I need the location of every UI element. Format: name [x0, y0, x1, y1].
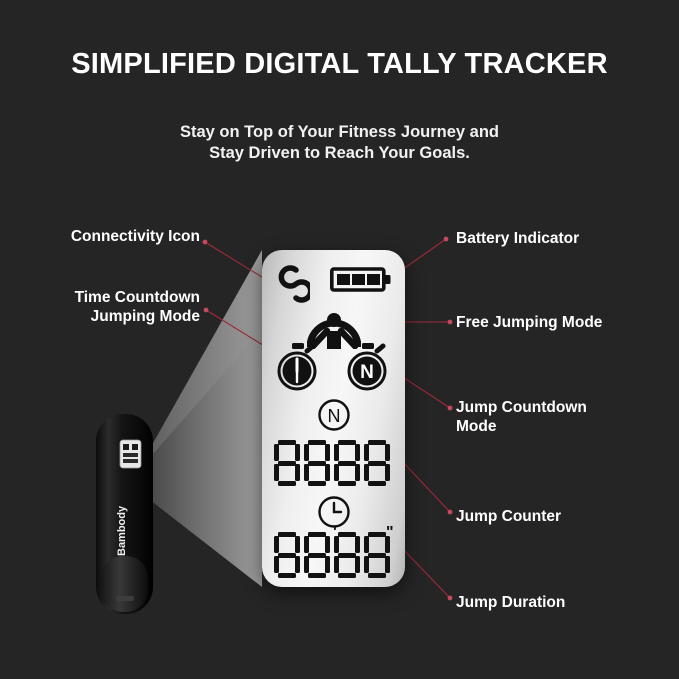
segment-b [355, 536, 360, 553]
segment-e [364, 556, 369, 573]
segment-f [364, 536, 369, 553]
segment-f [334, 444, 339, 461]
minute-mark: ' [333, 528, 337, 538]
callout-jump-countdown-mode: Jump Countdown Mode [456, 398, 671, 436]
segment-b [355, 444, 360, 461]
segment-e [274, 464, 279, 481]
brand-logo-text: Bambody [116, 505, 128, 556]
segment-e [364, 464, 369, 481]
counter-badge-letter: N [328, 406, 341, 426]
segment-e [304, 464, 309, 481]
jump-counter-digit [304, 440, 330, 486]
segment-d [308, 573, 326, 578]
segment-c [295, 556, 300, 573]
segment-e [334, 464, 339, 481]
segment-c [385, 464, 390, 481]
jump-counter-digit [334, 440, 360, 486]
segment-a [278, 440, 296, 445]
segment-d [278, 573, 296, 578]
jump-duration-digit [334, 532, 360, 578]
segment-d [338, 573, 356, 578]
jump-duration-digit [274, 532, 300, 578]
segment-c [355, 464, 360, 481]
callout-battery-indicator: Battery Indicator [456, 229, 671, 248]
segment-g [338, 553, 356, 558]
segment-b [295, 536, 300, 553]
jump-counter-digit [274, 440, 300, 486]
jump-rope-handle: Bambody [96, 414, 153, 614]
infographic-stage: SIMPLIFIED DIGITAL TALLY TRACKER Stay on… [0, 0, 679, 679]
projected-display-panel: N N ' " [262, 250, 405, 587]
segment-a [338, 440, 356, 445]
callout-free-jumping-mode: Free Jumping Mode [456, 313, 671, 332]
segment-d [368, 573, 386, 578]
segment-b [385, 444, 390, 461]
segment-g [308, 461, 326, 466]
segment-a [368, 440, 386, 445]
segment-a [368, 532, 386, 537]
segment-a [308, 440, 326, 445]
segment-e [304, 556, 309, 573]
jump-duration-digit [304, 532, 330, 578]
svg-text:N: N [360, 362, 374, 383]
callout-connectivity-icon: Connectivity Icon [15, 227, 200, 246]
stopwatch-icon [274, 342, 322, 392]
counter-badge-icon: N [317, 398, 351, 432]
segment-d [308, 481, 326, 486]
segment-a [338, 532, 356, 537]
segment-g [338, 461, 356, 466]
segment-a [308, 532, 326, 537]
segment-c [355, 556, 360, 573]
jump-counter-display [274, 440, 390, 486]
stopwatch-n-icon: N [344, 342, 392, 392]
link-rings-icon [276, 264, 310, 304]
segment-d [338, 481, 356, 486]
jump-duration-display [274, 532, 390, 578]
segment-c [295, 464, 300, 481]
segment-g [368, 461, 386, 466]
segment-b [295, 444, 300, 461]
segment-b [325, 536, 330, 553]
segment-e [274, 556, 279, 573]
second-mark: " [386, 528, 394, 538]
segment-d [368, 481, 386, 486]
segment-c [325, 556, 330, 573]
jump-counter-digit [364, 440, 390, 486]
segment-g [368, 553, 386, 558]
segment-e [334, 556, 339, 573]
segment-d [278, 481, 296, 486]
segment-f [274, 444, 279, 461]
segment-c [325, 464, 330, 481]
callout-time-countdown-jumping-mode: Time Countdown Jumping Mode [15, 288, 200, 326]
segment-f [304, 536, 309, 553]
segment-f [274, 536, 279, 553]
segment-f [364, 444, 369, 461]
segment-c [385, 556, 390, 573]
battery-icon [330, 266, 392, 293]
segment-f [304, 444, 309, 461]
segment-a [278, 532, 296, 537]
segment-g [278, 461, 296, 466]
segment-b [325, 444, 330, 461]
callout-jump-duration: Jump Duration [456, 593, 671, 612]
segment-g [278, 553, 296, 558]
callout-jump-counter: Jump Counter [456, 507, 671, 526]
segment-g [308, 553, 326, 558]
